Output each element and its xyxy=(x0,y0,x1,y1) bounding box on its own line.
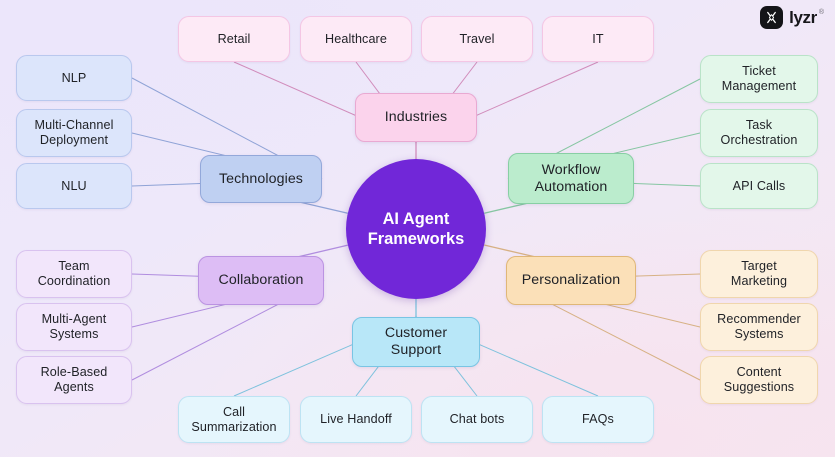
central-node-label: AI Agent Frameworks xyxy=(368,209,465,249)
leaf-node-api-calls-label: API Calls xyxy=(733,179,786,194)
leaf-node-nlu[interactable]: NLU xyxy=(16,163,132,209)
branch-node-collaboration-label: Collaboration xyxy=(219,272,304,289)
leaf-node-multi-channel-deployment-label: Multi-Channel Deployment xyxy=(35,118,114,148)
central-node[interactable]: AI Agent Frameworks xyxy=(346,159,486,299)
brand-logo[interactable]: lyzr ® xyxy=(760,6,824,29)
leaf-node-team-coordination-label: Team Coordination xyxy=(38,259,111,289)
leaf-node-call-summarization-label: Call Summarization xyxy=(191,405,276,435)
leaf-node-healthcare-label: Healthcare xyxy=(325,32,387,47)
leaf-node-nlp-label: NLP xyxy=(62,71,87,86)
leaf-node-team-coordination[interactable]: Team Coordination xyxy=(16,250,132,298)
leaf-node-multi-channel-deployment[interactable]: Multi-Channel Deployment xyxy=(16,109,132,157)
leaf-node-chat-bots[interactable]: Chat bots xyxy=(421,396,533,443)
branch-node-industries[interactable]: Industries xyxy=(355,93,477,142)
leaf-node-live-handoff[interactable]: Live Handoff xyxy=(300,396,412,443)
leaf-node-call-summarization[interactable]: Call Summarization xyxy=(178,396,290,443)
leaf-node-api-calls[interactable]: API Calls xyxy=(700,163,818,209)
leaf-node-it[interactable]: IT xyxy=(542,16,654,62)
leaf-node-faqs[interactable]: FAQs xyxy=(542,396,654,443)
mindmap-canvas: RetailHealthcareTravelITNLPMulti-Channel… xyxy=(0,0,835,457)
branch-node-personalization[interactable]: Personalization xyxy=(506,256,636,305)
leaf-node-live-handoff-label: Live Handoff xyxy=(320,412,392,427)
leaf-node-multi-agent-systems[interactable]: Multi-Agent Systems xyxy=(16,303,132,351)
leaf-node-target-marketing[interactable]: Target Marketing xyxy=(700,250,818,298)
leaf-node-role-based-agents[interactable]: Role-Based Agents xyxy=(16,356,132,404)
lyzr-diamond-icon xyxy=(760,6,783,29)
branch-node-workflow[interactable]: Workflow Automation xyxy=(508,153,634,204)
leaf-node-multi-agent-systems-label: Multi-Agent Systems xyxy=(42,312,107,342)
leaf-node-faqs-label: FAQs xyxy=(582,412,614,427)
brand-trademark: ® xyxy=(819,9,824,16)
leaf-node-retail-label: Retail xyxy=(218,32,251,47)
leaf-node-travel-label: Travel xyxy=(459,32,494,47)
leaf-node-healthcare[interactable]: Healthcare xyxy=(300,16,412,62)
leaf-node-recommender-systems-label: Recommender Systems xyxy=(717,312,801,342)
brand-wordmark: lyzr xyxy=(789,8,817,28)
branch-node-workflow-label: Workflow Automation xyxy=(535,162,608,196)
branch-node-technologies-label: Technologies xyxy=(219,171,303,188)
leaf-node-target-marketing-label: Target Marketing xyxy=(731,259,787,289)
branch-node-technologies[interactable]: Technologies xyxy=(200,155,322,203)
leaf-node-content-suggestions-label: Content Suggestions xyxy=(724,365,794,395)
leaf-node-role-based-agents-label: Role-Based Agents xyxy=(41,365,108,395)
branch-node-industries-label: Industries xyxy=(385,109,448,126)
leaf-node-retail[interactable]: Retail xyxy=(178,16,290,62)
leaf-node-ticket-management[interactable]: Ticket Management xyxy=(700,55,818,103)
leaf-node-task-orchestration[interactable]: Task Orchestration xyxy=(700,109,818,157)
leaf-node-chat-bots-label: Chat bots xyxy=(450,412,505,427)
leaf-node-content-suggestions[interactable]: Content Suggestions xyxy=(700,356,818,404)
branch-node-personalization-label: Personalization xyxy=(522,272,621,289)
leaf-node-travel[interactable]: Travel xyxy=(421,16,533,62)
branch-node-collaboration[interactable]: Collaboration xyxy=(198,256,324,305)
branch-node-support[interactable]: Customer Support xyxy=(352,317,480,367)
branch-node-support-label: Customer Support xyxy=(385,325,447,359)
leaf-node-task-orchestration-label: Task Orchestration xyxy=(721,118,798,148)
leaf-node-ticket-management-label: Ticket Management xyxy=(722,64,797,94)
leaf-node-recommender-systems[interactable]: Recommender Systems xyxy=(700,303,818,351)
leaf-node-nlp[interactable]: NLP xyxy=(16,55,132,101)
leaf-node-nlu-label: NLU xyxy=(61,179,87,194)
leaf-node-it-label: IT xyxy=(592,32,603,47)
